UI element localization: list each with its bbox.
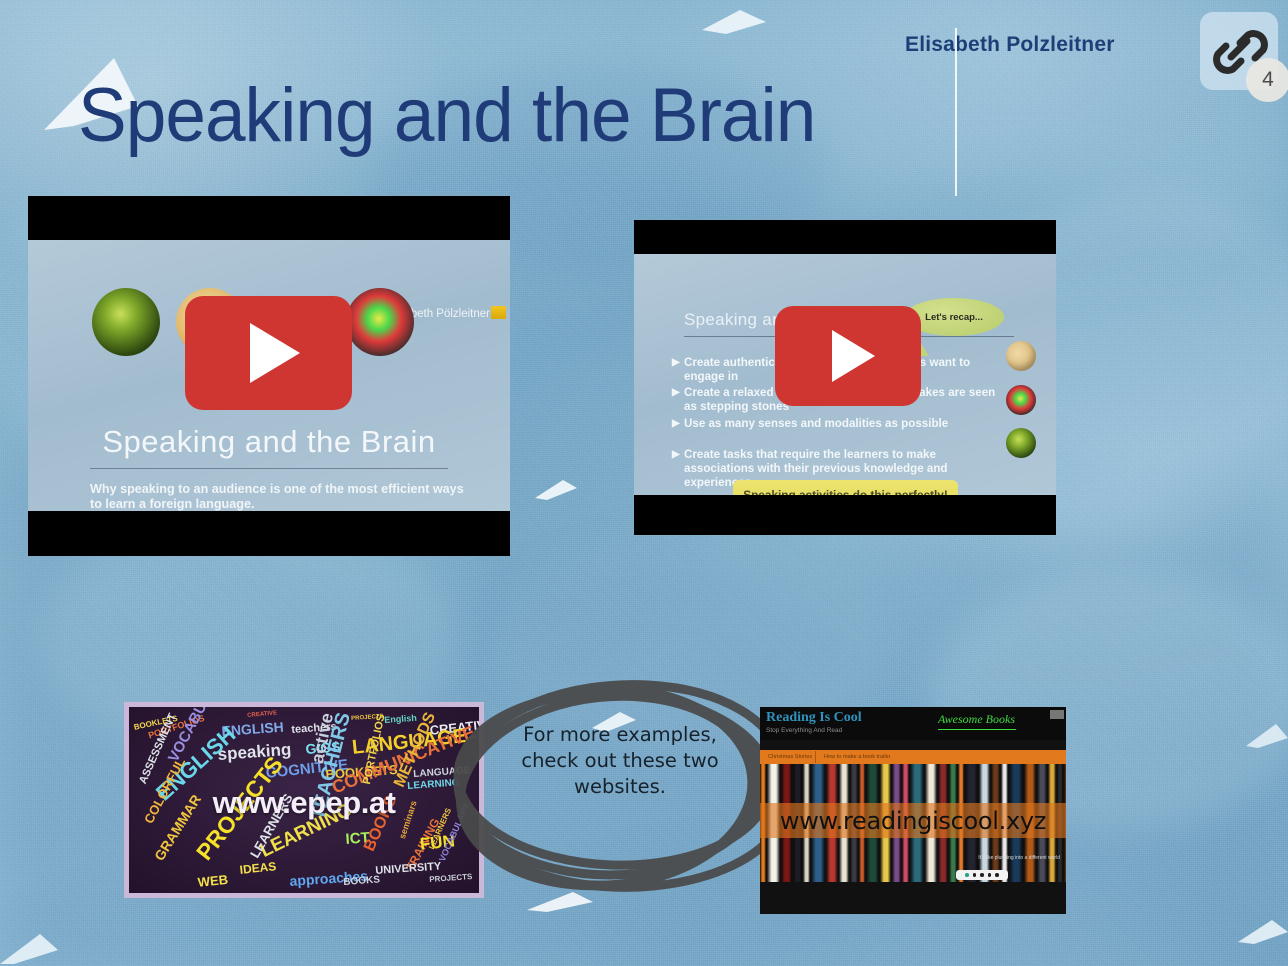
neuron-orb-icon: [92, 288, 160, 356]
link-count-badge: 4: [1246, 58, 1288, 102]
wordcloud-url-label: www.epep.at: [129, 785, 479, 821]
letterbox-top: [28, 196, 510, 240]
video-1-rule: [90, 468, 448, 469]
author-name: Elisabeth Polzleitner: [905, 33, 1115, 57]
bullet-caret-icon: ▶: [672, 449, 680, 461]
sound-waves-icon: [1006, 341, 1036, 371]
youtube-play-icon: [250, 323, 300, 383]
video-2-banner: Speaking activities do this perfectly!: [733, 480, 958, 495]
video-1-logo-icon: [491, 306, 506, 319]
paper-scrap-5: [525, 888, 595, 914]
youtube-play-icon: [832, 330, 875, 382]
website-url-label: www.readingiscool.xyz: [760, 803, 1066, 838]
carousel-dots[interactable]: [956, 870, 1008, 880]
nav-item-2[interactable]: How to make a book trailer: [824, 754, 891, 760]
neuron-icon: [1006, 428, 1036, 458]
carousel-dot[interactable]: [980, 873, 984, 877]
paper-scrap-2: [700, 8, 770, 38]
video-1-subtitle: Why speaking to an audience is one of th…: [90, 482, 466, 511]
note-text: For more examples, check out these two w…: [500, 722, 740, 800]
wordcloud-inner: BOOKLETSPORTFOLIOSENGLISHteachersCREATIV…: [129, 707, 479, 893]
wordcloud-word: English: [384, 713, 417, 725]
logo-underline: [938, 729, 1016, 730]
wordcloud-image[interactable]: BOOKLETSPORTFOLIOSENGLISHteachersCREATIV…: [124, 702, 484, 898]
wordcloud-word: WEB: [197, 872, 229, 890]
letterbox-top: [634, 220, 1056, 254]
website-nav: Christmas Stories How to make a book tra…: [760, 750, 1066, 764]
brain-scan-orb-icon: [346, 288, 414, 356]
video-card-1[interactable]: Elisabeth Pölzleitner Speaking and the B…: [28, 196, 510, 556]
carousel-dot[interactable]: [995, 873, 999, 877]
website-screenshot[interactable]: Reading Is Cool Stop Everything And Read…: [760, 707, 1066, 914]
header-divider: [955, 28, 957, 196]
carousel-dot[interactable]: [973, 873, 977, 877]
wordcloud-word: CREATIVE: [247, 710, 277, 719]
nav-item-1[interactable]: Christmas Stories: [768, 754, 812, 760]
paper-scrap-3: [533, 476, 579, 502]
letterbox-bottom: [634, 495, 1056, 535]
play-button-2[interactable]: [775, 306, 921, 406]
website-title: Reading Is Cool: [766, 710, 862, 726]
page-title: Speaking and the Brain: [78, 72, 815, 159]
website-tagline: Stop Everything And Read: [766, 727, 842, 734]
letterbox-bottom: [28, 511, 510, 556]
paper-scrap-6: [1236, 916, 1288, 946]
play-button-1[interactable]: [185, 296, 352, 410]
slide-canvas: Elisabeth Polzleitner 4 Speaking and the…: [0, 0, 1288, 966]
awesome-books-logo: Awesome Books: [938, 712, 1015, 727]
bullet-caret-icon: ▶: [672, 387, 680, 399]
website-caption: It's like plunging into a different worl…: [978, 855, 1060, 861]
wordcloud-word: IDEAS: [239, 859, 277, 877]
website-corner-button[interactable]: [1050, 710, 1064, 719]
video-card-2[interactable]: Speaking and the Brain: Part II Let's re…: [634, 220, 1056, 535]
carousel-dot[interactable]: [965, 873, 969, 877]
nav-divider: [815, 751, 816, 763]
paper-scrap-8: [0, 926, 60, 966]
wordcloud-word: PROJECTS: [429, 872, 473, 884]
brain-scan-icon: [1006, 385, 1036, 415]
bullet-caret-icon: ▶: [672, 357, 680, 369]
paper-scrap-7: [1244, 722, 1288, 750]
bullet-caret-icon: ▶: [672, 418, 680, 430]
wordcloud-word: BOOKS: [343, 874, 380, 888]
carousel-dot[interactable]: [988, 873, 992, 877]
video-1-title: Speaking and the Brain: [28, 424, 510, 460]
video-2-bullet-3: ▶ Use as many senses and modalities as p…: [684, 417, 1000, 431]
